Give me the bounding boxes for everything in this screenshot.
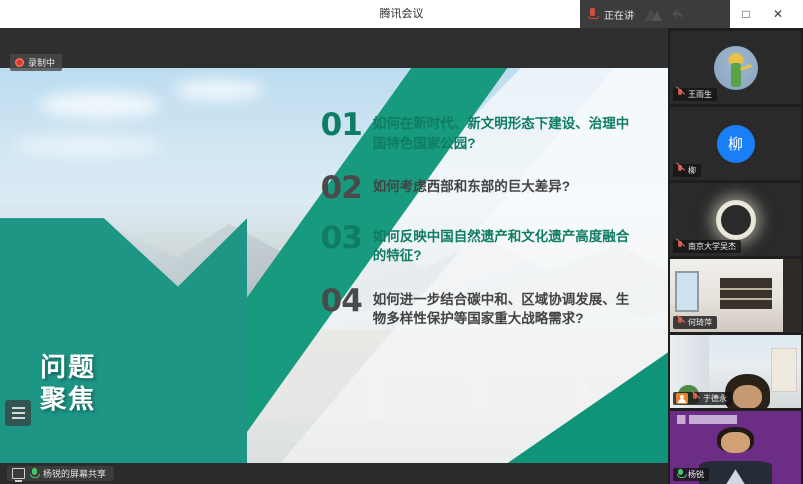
- institution-logo: [677, 415, 737, 424]
- window-title-bar: 腾讯会议 正在讲话: 杨锐 ─ □ ✕: [0, 0, 803, 28]
- slide-question-item: 04 如何进一步结合碳中和、区域协调发展、生物多样性保护等国家重大战略需求?: [321, 287, 642, 328]
- slide-title-line-1: 问题: [40, 352, 96, 384]
- participant-video-rail[interactable]: 王雨生 柳 柳 南京大学吴杰: [668, 28, 803, 484]
- cloud-shape: [13, 135, 163, 157]
- participant-name: 于德永: [703, 393, 727, 404]
- participant-tile[interactable]: 王雨生: [670, 31, 801, 104]
- participant-name-badge: 杨锐: [673, 468, 709, 481]
- question-text: 如何考虑西部和东部的巨大差异?: [373, 174, 570, 196]
- close-button[interactable]: ✕: [765, 0, 791, 28]
- participant-tile[interactable]: 南京大学吴杰: [670, 183, 801, 256]
- participant-tile[interactable]: 何琦萍: [670, 259, 801, 332]
- person-face-shape: [733, 385, 762, 408]
- shared-screen-area[interactable]: 录制中: [0, 28, 668, 484]
- mountain-icon: [643, 7, 665, 22]
- participant-name: 杨锐: [688, 469, 704, 480]
- shelf-shape: [771, 348, 797, 392]
- avatar-hair-shape: [728, 53, 743, 64]
- microphone-muted-icon: [676, 89, 685, 100]
- undo-arrow-icon[interactable]: [669, 7, 685, 21]
- menu-line: [12, 417, 25, 419]
- slide-title: 问题 聚焦: [40, 352, 96, 415]
- question-text: 如何反映中国自然遗产和文化遗产高度融合的特征?: [373, 224, 641, 265]
- microphone-muted-icon: [676, 317, 685, 328]
- slide-title-line-2: 聚焦: [40, 384, 96, 416]
- slide-question-list: 01 如何在新时代、新文明形态下建设、治理中国特色国家公园? 02 如何考虑西部…: [321, 111, 642, 348]
- question-number: 03: [321, 224, 362, 253]
- participant-name: 南京大学吴杰: [688, 241, 736, 252]
- screen-share-label: 杨锐的屏幕共享: [43, 467, 106, 480]
- question-number: 01: [321, 111, 362, 140]
- titlebar-icon-group[interactable]: [635, 0, 693, 28]
- question-text: 如何进一步结合碳中和、区域协调发展、生物多样性保护等国家重大战略需求?: [373, 287, 641, 328]
- microphone-on-icon: [30, 468, 38, 480]
- shelf-shape: [720, 278, 772, 309]
- participant-tile[interactable]: 柳 柳: [670, 107, 801, 180]
- recording-label: 录制中: [28, 56, 55, 69]
- tencent-meeting-window: 腾讯会议 正在讲话: 杨锐 ─ □ ✕ 录制中: [0, 0, 803, 484]
- record-dot-icon: [15, 58, 24, 67]
- microphone-muted-icon: [676, 241, 685, 252]
- person-face-shape: [721, 432, 750, 452]
- recording-badge: 录制中: [10, 54, 62, 71]
- shelf-line: [720, 288, 772, 290]
- question-number: 04: [321, 287, 362, 316]
- question-text: 如何在新时代、新文明形态下建设、治理中国特色国家公园?: [373, 111, 641, 152]
- microphone-muted-icon: [691, 393, 700, 404]
- ring-avatar: [716, 200, 756, 240]
- cloud-shape: [174, 80, 264, 100]
- window-shape: [675, 271, 699, 312]
- maximize-button[interactable]: □: [733, 0, 759, 28]
- left-green-panel: [0, 218, 247, 463]
- question-number: 02: [321, 174, 362, 203]
- screen-share-status-bar: 杨锐的屏幕共享: [0, 463, 668, 484]
- presentation-slide: 问题 聚焦 01 如何在新时代、新文明形态下建设、治理中国特色国家公园? 02 …: [0, 68, 668, 463]
- initial-avatar: 柳: [717, 125, 755, 163]
- participant-name-badge: 南京大学吴杰: [673, 240, 741, 253]
- participant-name-badge: 王雨生: [673, 88, 717, 101]
- menu-line: [12, 412, 25, 414]
- microphone-on-icon: [676, 469, 685, 480]
- participant-tile-active-speaker[interactable]: 杨锐: [670, 411, 801, 484]
- dark-edge-shape: [783, 259, 801, 332]
- minimize-button[interactable]: ─: [703, 0, 729, 28]
- screen-share-icon: [12, 468, 25, 479]
- cloud-shape: [40, 92, 160, 118]
- hamburger-menu-icon[interactable]: [5, 400, 31, 426]
- participant-tile[interactable]: 于德永: [670, 335, 801, 408]
- participant-name: 柳: [688, 165, 696, 176]
- participant-name: 王雨生: [688, 89, 712, 100]
- slide-question-item: 03 如何反映中国自然遗产和文化遗产高度融合的特征?: [321, 224, 642, 265]
- participant-name-badge: 何琦萍: [673, 316, 717, 329]
- screen-share-pill: 杨锐的屏幕共享: [7, 466, 114, 481]
- participant-name-badge: 于德永: [673, 392, 732, 405]
- illustration-avatar: [714, 46, 758, 90]
- menu-line: [12, 407, 25, 409]
- host-badge-icon: [676, 393, 688, 404]
- slide-question-item: 02 如何考虑西部和东部的巨大差异?: [321, 174, 642, 203]
- shelf-line: [720, 298, 772, 300]
- slide-question-item: 01 如何在新时代、新文明形态下建设、治理中国特色国家公园?: [321, 111, 642, 152]
- participant-name: 何琦萍: [688, 317, 712, 328]
- participant-name-badge: 柳: [673, 164, 701, 177]
- avatar-body-shape: [731, 63, 741, 87]
- avatar-arm-shape: [740, 64, 752, 71]
- microphone-muted-icon: [676, 165, 685, 176]
- microphone-icon: [586, 8, 599, 21]
